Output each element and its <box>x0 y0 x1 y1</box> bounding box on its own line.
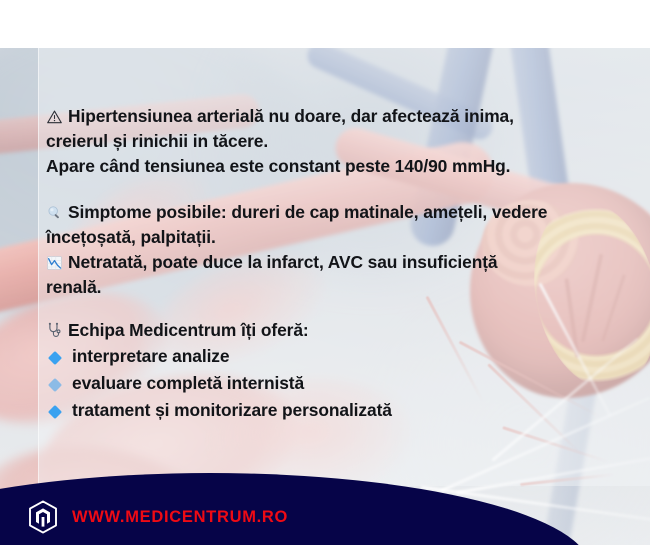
website-url[interactable]: WWW.MEDICENTRUM.RO <box>72 508 288 527</box>
warning-paragraph: Hipertensiunea arterială nu doare, dar a… <box>46 104 616 129</box>
list-item: tratament și monitorizare personalizată <box>46 397 616 424</box>
warning-triangle-icon <box>46 107 63 123</box>
offer-item-label: evaluare completă internistă <box>72 373 304 393</box>
top-white-band <box>0 0 650 48</box>
warning-line-2: creierul și rinichii in tăcere. <box>46 131 268 151</box>
risk-line-1: Netratată, poate duce la infarct, AVC sa… <box>68 252 497 272</box>
risk-line-2-row: renală. <box>46 275 616 300</box>
symptoms-line-1: Simptome posibile: dureri de cap matinal… <box>68 202 547 222</box>
chart-decreasing-icon <box>46 253 63 269</box>
poster-copy: Hipertensiunea arterială nu doare, dar a… <box>46 104 616 424</box>
symptoms-paragraph: Simptome posibile: dureri de cap matinal… <box>46 200 616 225</box>
footer-bar: WWW.MEDICENTRUM.RO <box>0 489 650 545</box>
symptoms-line-2-row: încețoșată, palpitații. <box>46 225 616 250</box>
magnifying-glass-icon <box>46 203 63 219</box>
offer-item-label: interpretare analize <box>72 346 229 366</box>
stethoscope-icon <box>46 321 63 338</box>
spacer <box>46 179 616 200</box>
medicentrum-hexagon-logo[interactable] <box>28 500 58 534</box>
poster: Hipertensiunea arterială nu doare, dar a… <box>0 0 650 545</box>
warning-line-1: Hipertensiunea arterială nu doare, dar a… <box>68 106 514 126</box>
offer-heading: Echipa Medicentrum îți oferă: <box>68 320 309 340</box>
risk-line-2: renală. <box>46 277 101 297</box>
warning-line-3-row: Apare când tensiunea este constant peste… <box>46 154 616 179</box>
warning-line-3: Apare când tensiunea este constant peste… <box>46 156 510 176</box>
risk-paragraph: Netratată, poate duce la infarct, AVC sa… <box>46 250 616 275</box>
diamond-bullet-icon <box>48 351 62 365</box>
spacer <box>46 300 616 318</box>
symptoms-line-2: încețoșată, palpitații. <box>46 227 216 247</box>
list-item: interpretare analize <box>46 343 616 370</box>
diamond-bullet-icon <box>48 405 62 419</box>
warning-line-2-row: creierul și rinichii in tăcere. <box>46 129 616 154</box>
list-item: evaluare completă internistă <box>46 370 616 397</box>
offer-list: interpretare analize evaluare completă i… <box>46 343 616 424</box>
offer-heading-row: Echipa Medicentrum îți oferă: <box>46 318 616 343</box>
offer-item-label: tratament și monitorizare personalizată <box>72 400 392 420</box>
diamond-bullet-icon <box>48 378 62 392</box>
